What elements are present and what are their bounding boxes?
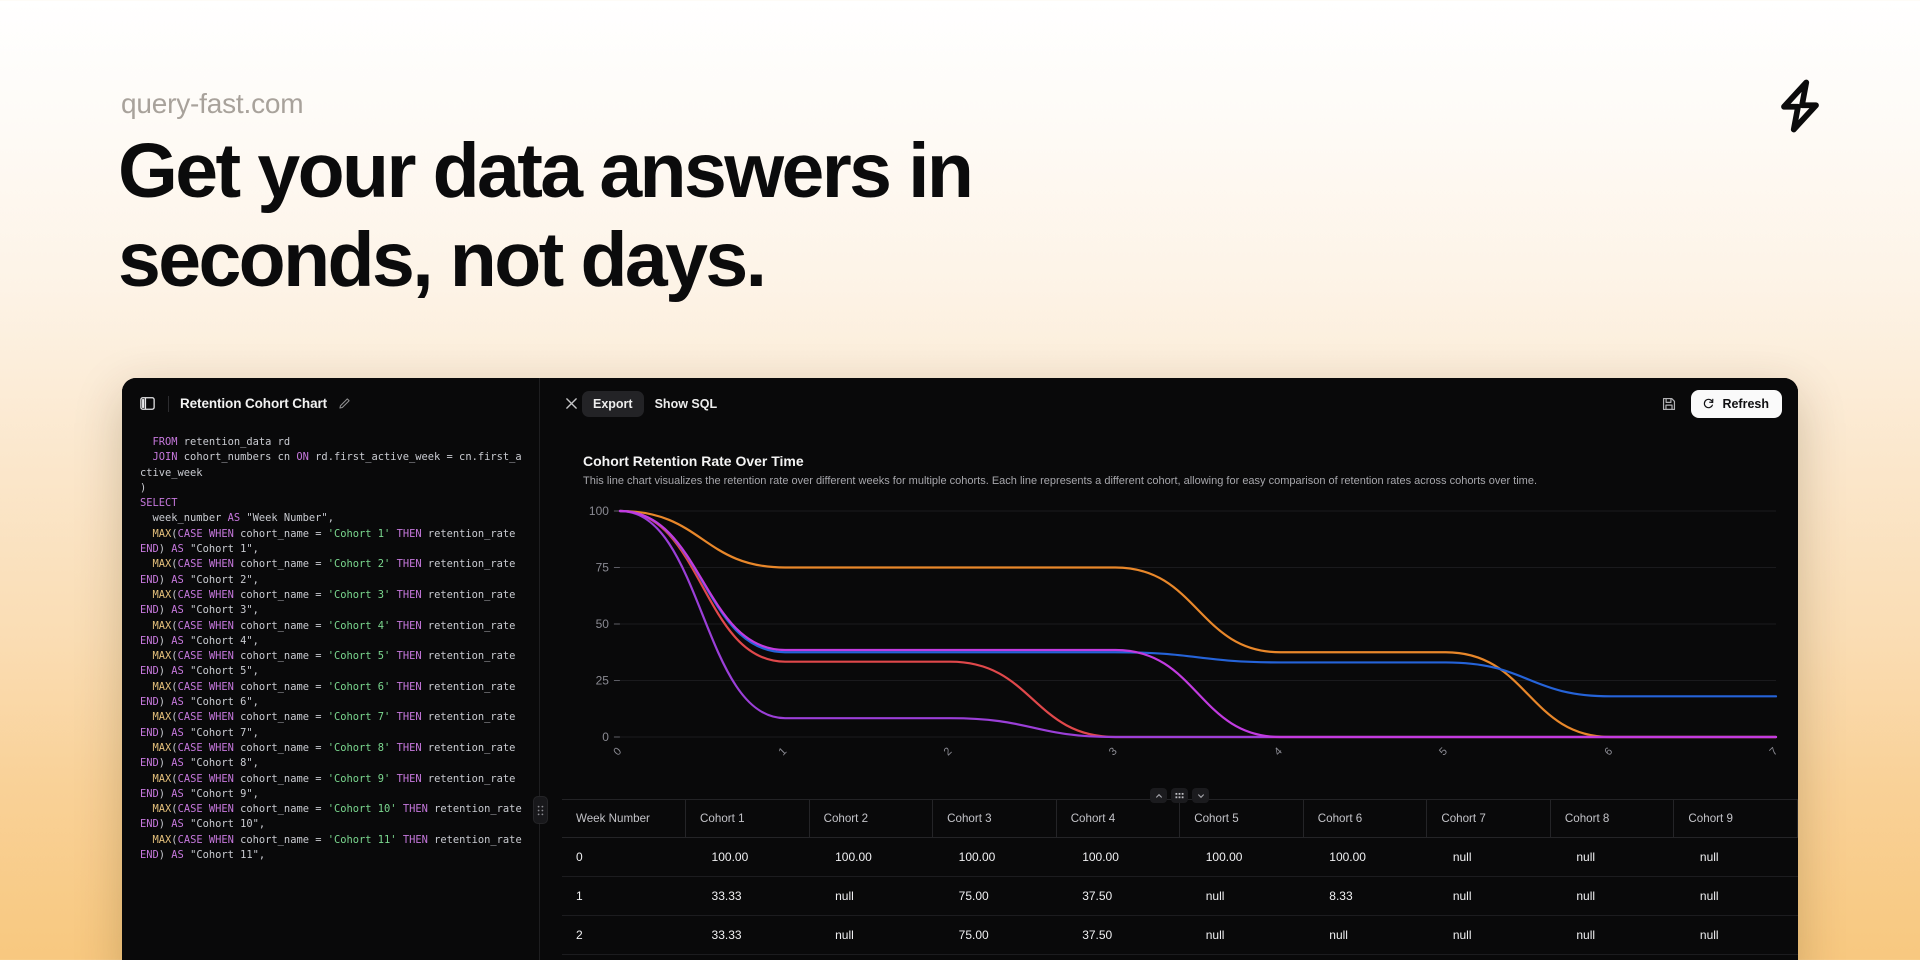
split-controls xyxy=(1150,788,1209,803)
table-cell: 100.00 xyxy=(686,838,810,877)
svg-text:6: 6 xyxy=(1602,745,1615,758)
chart-panel: Cohort Retention Rate Over Time This lin… xyxy=(540,429,1798,960)
table-cell: 75.00 xyxy=(933,916,1057,955)
table-col-header[interactable]: Cohort 3 xyxy=(933,799,1057,838)
export-button[interactable]: Export xyxy=(582,391,644,417)
svg-text:3: 3 xyxy=(1107,745,1120,758)
table-row[interactable]: 0100.00100.00100.00100.00100.00100.00nul… xyxy=(562,838,1798,877)
save-disk-icon[interactable] xyxy=(1657,392,1681,416)
svg-text:1: 1 xyxy=(777,745,790,758)
table-cell: null xyxy=(1303,916,1427,955)
table-cell: 0 xyxy=(562,838,686,877)
pencil-icon[interactable] xyxy=(338,397,351,410)
table-body: 0100.00100.00100.00100.00100.00100.00nul… xyxy=(562,838,1798,955)
table-col-header[interactable]: Week Number xyxy=(562,799,686,838)
table-cell: null xyxy=(1674,877,1798,916)
results-table: Week NumberCohort 1Cohort 2Cohort 3Cohor… xyxy=(562,799,1798,955)
chevron-up-icon[interactable] xyxy=(1150,788,1167,803)
table-cell: 100.00 xyxy=(809,838,933,877)
svg-text:75: 75 xyxy=(596,560,610,574)
table-cell: null xyxy=(809,877,933,916)
refresh-button[interactable]: Refresh xyxy=(1691,390,1782,418)
refresh-icon xyxy=(1702,397,1715,410)
table-cell: null xyxy=(809,916,933,955)
table-cell: null xyxy=(1427,916,1551,955)
svg-text:25: 25 xyxy=(596,673,610,687)
table-col-header[interactable]: Cohort 5 xyxy=(1180,799,1304,838)
vertical-grip-icon[interactable] xyxy=(533,796,548,824)
toolbar-right: Export Show SQL Refresh xyxy=(540,378,1798,429)
table-cell: 100.00 xyxy=(1056,838,1180,877)
sql-editor-panel[interactable]: FROM retention_data rd JOIN cohort_numbe… xyxy=(122,429,540,960)
table-cell: null xyxy=(1180,877,1304,916)
table-head: Week NumberCohort 1Cohort 2Cohort 3Cohor… xyxy=(562,799,1798,838)
table-cell: null xyxy=(1180,916,1304,955)
table-cell: 8.33 xyxy=(1303,877,1427,916)
table-cell: null xyxy=(1550,916,1674,955)
table-row[interactable]: 133.33null75.0037.50null8.33nullnullnull xyxy=(562,877,1798,916)
table-col-header[interactable]: Cohort 2 xyxy=(809,799,933,838)
table-col-header[interactable]: Cohort 9 xyxy=(1674,799,1798,838)
toolbar-divider xyxy=(168,396,169,412)
table-col-header[interactable]: Cohort 7 xyxy=(1427,799,1551,838)
chart-title: Cohort Retention Rate Over Time xyxy=(583,453,804,469)
chart-subtitle: This line chart visualizes the retention… xyxy=(583,474,1772,489)
table-cell: 2 xyxy=(562,916,686,955)
grid-drag-icon[interactable] xyxy=(1171,788,1188,803)
chevron-down-icon[interactable] xyxy=(1192,788,1209,803)
table-cell: 75.00 xyxy=(933,877,1057,916)
svg-text:50: 50 xyxy=(596,617,610,631)
table-row[interactable]: 233.33null75.0037.50nullnullnullnullnull xyxy=(562,916,1798,955)
line-chart: 025507510001234567 xyxy=(562,499,1790,779)
close-icon[interactable] xyxy=(560,393,582,415)
app-toolbar: Retention Cohort Chart Export Show SQL xyxy=(122,378,1798,429)
page-title: Get your data answers in seconds, not da… xyxy=(118,127,1298,306)
table-cell: null xyxy=(1427,838,1551,877)
table-cell: 100.00 xyxy=(1180,838,1304,877)
table-cell: null xyxy=(1550,838,1674,877)
svg-text:0: 0 xyxy=(611,745,624,758)
table-cell: null xyxy=(1674,916,1798,955)
table-cell: 33.33 xyxy=(686,916,810,955)
table-cell: 100.00 xyxy=(1303,838,1427,877)
table-cell: 33.33 xyxy=(686,877,810,916)
table-header-row: Week NumberCohort 1Cohort 2Cohort 3Cohor… xyxy=(562,799,1798,838)
table-cell: 37.50 xyxy=(1056,916,1180,955)
table-col-header[interactable]: Cohort 4 xyxy=(1056,799,1180,838)
table-col-header[interactable]: Cohort 8 xyxy=(1550,799,1674,838)
show-sql-button[interactable]: Show SQL xyxy=(644,391,729,417)
lightning-bolt-icon xyxy=(1770,76,1830,136)
app-window: Retention Cohort Chart Export Show SQL xyxy=(122,378,1798,960)
table-col-header[interactable]: Cohort 1 xyxy=(686,799,810,838)
svg-text:100: 100 xyxy=(589,504,609,518)
brand-domain: query-fast.com xyxy=(121,88,303,120)
table-cell: null xyxy=(1674,838,1798,877)
document-title[interactable]: Retention Cohort Chart xyxy=(180,396,327,411)
table-cell: null xyxy=(1550,877,1674,916)
refresh-label: Refresh xyxy=(1722,397,1769,411)
table-cell: 1 xyxy=(562,877,686,916)
table-cell: 37.50 xyxy=(1056,877,1180,916)
sql-code[interactable]: FROM retention_data rd JOIN cohort_numbe… xyxy=(122,429,539,863)
table-cell: 100.00 xyxy=(933,838,1057,877)
table-cell: null xyxy=(1427,877,1551,916)
table-col-header[interactable]: Cohort 6 xyxy=(1303,799,1427,838)
hero-section: query-fast.com Get your data answers in … xyxy=(0,0,1920,372)
svg-text:0: 0 xyxy=(602,730,609,744)
sidebar-panel-icon[interactable] xyxy=(137,394,157,414)
svg-text:5: 5 xyxy=(1437,745,1450,758)
results-table-panel: Week NumberCohort 1Cohort 2Cohort 3Cohor… xyxy=(562,799,1798,960)
toolbar-left: Retention Cohort Chart xyxy=(122,378,540,429)
svg-text:4: 4 xyxy=(1272,745,1285,758)
svg-text:7: 7 xyxy=(1768,745,1781,758)
svg-text:2: 2 xyxy=(942,745,955,758)
